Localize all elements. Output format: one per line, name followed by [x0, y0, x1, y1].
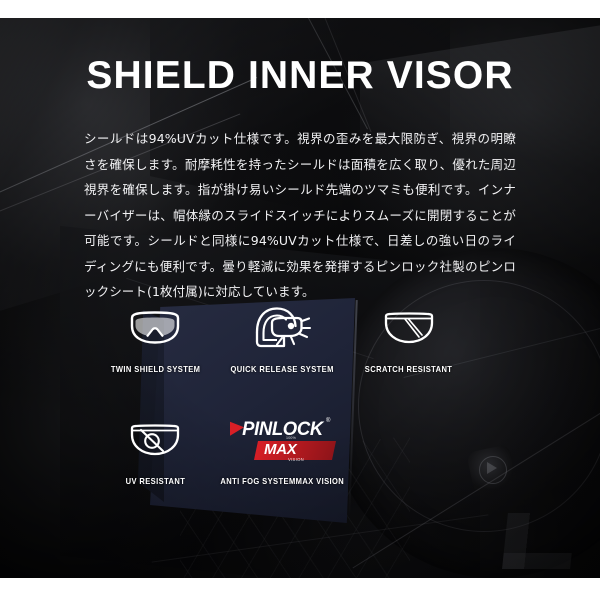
twin-shield-icon: [128, 300, 182, 356]
feature-twin-shield-system: TWIN SHIELD SYSTEM: [92, 300, 219, 374]
feature-label: UV RESISTANT: [125, 477, 185, 486]
pinlock-vision-caption: VISION: [288, 457, 304, 462]
feature-label: QUICK RELEASE SYSTEM: [230, 365, 333, 374]
feature-row-top: TWIN SHIELD SYSTEM: [92, 300, 472, 374]
feature-scratch-resistant: SCRATCH RESISTANT: [345, 300, 472, 374]
feature-label: SCRATCH RESISTANT: [365, 365, 453, 374]
quick-release-helmet-icon: [252, 300, 312, 356]
feature-row-bottom: UV RESISTANT PINLOCK ® 100% MAX VISION: [92, 412, 472, 486]
feature-quick-release-system: QUICK RELEASE SYSTEM: [219, 300, 346, 374]
top-white-band: [0, 0, 600, 18]
feature-anti-fog-system: PINLOCK ® 100% MAX VISION ANTI FOG SYSTE…: [219, 412, 346, 486]
scratch-resistant-shield-icon: [383, 300, 435, 356]
pinlock-brand-text: PINLOCK: [242, 418, 323, 441]
uv-resistant-shield-icon: [129, 412, 181, 468]
pinlock-micro-caption: 100%: [286, 436, 296, 440]
pinlock-max-text: MAX: [264, 441, 296, 458]
product-description: シールドは94%UVカット仕様です。視界の歪みを最大限防ぎ、視界の明瞭さを確保し…: [84, 126, 516, 305]
pinlock-registered-mark: ®: [326, 418, 330, 424]
feature-icon-grid: TWIN SHIELD SYSTEM: [92, 300, 472, 486]
product-feature-panel: SHIELD INNER VISOR シールドは94%UVカット仕様です。視界の…: [0, 0, 600, 600]
feature-label: TWIN SHIELD SYSTEM: [111, 365, 200, 374]
feature-label: ANTI FOG SYSTEMMAX VISION: [220, 477, 344, 486]
pinlock-logo: PINLOCK ® 100% MAX VISION: [226, 416, 338, 464]
pinlock-max-vision-logo: PINLOCK ® 100% MAX VISION: [226, 412, 338, 468]
content-overlay: SHIELD INNER VISOR シールドは94%UVカット仕様です。視界の…: [0, 18, 600, 578]
page-title: SHIELD INNER VISOR: [0, 56, 600, 95]
feature-uv-resistant: UV RESISTANT: [92, 412, 219, 486]
bottom-white-band: [0, 578, 600, 600]
